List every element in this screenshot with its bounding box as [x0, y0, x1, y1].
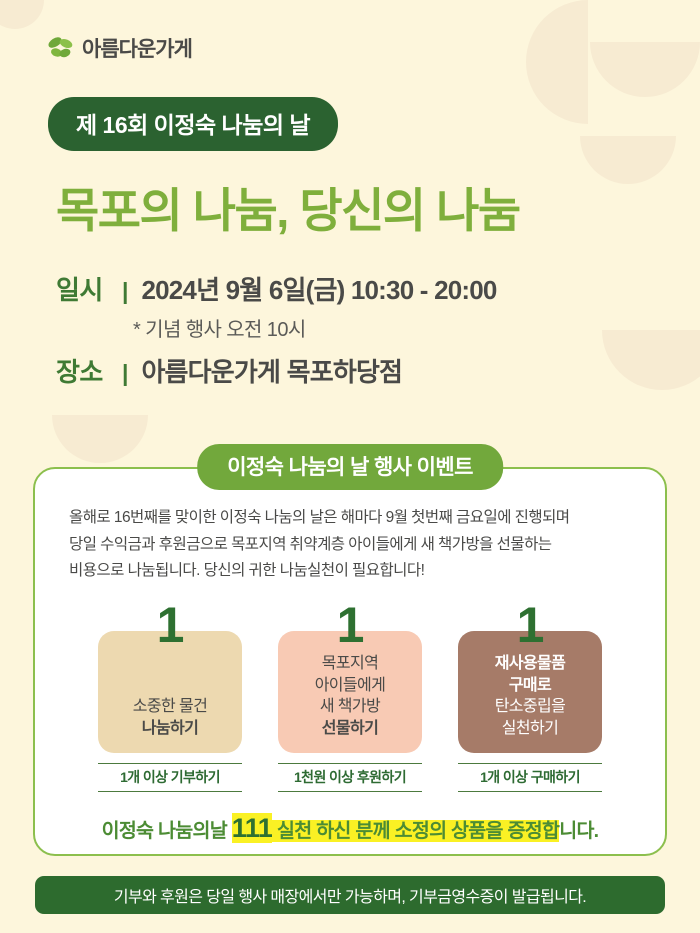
- decorative-shape-upper-right-large: [526, 0, 588, 124]
- place-value: 아름다운가게 목포하당점: [141, 352, 402, 389]
- reward-suffix: 니다.: [559, 820, 598, 842]
- event-card: 올해로 16번째를 맞이한 이정숙 나눔의 날은 해마다 9월 첫번째 금요일에…: [33, 467, 667, 856]
- action-box-line: 목포지역: [322, 653, 378, 675]
- action-box-number: 1: [157, 604, 184, 647]
- action-box-caption: 1개 이상 구매하기: [458, 763, 602, 792]
- action-box-caption: 1개 이상 기부하기: [98, 763, 242, 792]
- footer-notice: 기부와 후원은 당일 행사 매장에서만 가능하며, 기부금영수증이 발급됩니다.: [35, 876, 665, 914]
- action-box-line: 아이들에게: [315, 675, 386, 697]
- place-separator: |: [122, 360, 128, 387]
- description-line: 비용으로 나눔됩니다. 당신의 귀한 나눔실천이 필요합니다!: [69, 558, 631, 585]
- brand-logo: 아름다운가게: [46, 33, 192, 63]
- action-box-line: 선물하기: [322, 718, 378, 740]
- action-box-number: 1: [337, 604, 364, 647]
- reward-number: 111: [232, 813, 273, 843]
- event-info: 일시 | 2024년 9월 6일(금) 10:30 - 20:00 * 기념 행…: [56, 270, 656, 393]
- event-title-badge: 제 16회 이정숙 나눔의 날: [48, 97, 338, 151]
- decorative-shape-right-mid: [580, 136, 676, 184]
- action-box-line: 실천하기: [502, 718, 558, 740]
- description-line: 당일 수익금과 후원금으로 목포지역 취약계층 아이들에게 새 책가방을 선물하…: [69, 532, 631, 559]
- action-box-caption: 1천원 이상 후원하기: [278, 763, 422, 792]
- clover-leaf-icon: [46, 33, 76, 63]
- action-box-line: 재사용물품: [495, 653, 566, 675]
- event-description: 올해로 16번째를 맞이한 이정숙 나눔의 날은 해마다 9월 첫번째 금요일에…: [69, 505, 631, 585]
- logo-text: 아름다운가게: [82, 33, 192, 63]
- action-box-line: 새 책가방: [320, 696, 380, 718]
- description-line: 올해로 16번째를 맞이한 이정숙 나눔의 날은 해마다 9월 첫번째 금요일에…: [69, 505, 631, 532]
- date-label: 일시: [56, 270, 118, 307]
- action-box-number: 1: [517, 604, 544, 647]
- event-card-badge: 이정숙 나눔의 날 행사 이벤트: [197, 444, 503, 490]
- action-box-line: 구매로: [509, 675, 551, 697]
- decorative-shape-top-left: [0, 0, 44, 29]
- decorative-shape-right-top: [590, 42, 700, 97]
- decorative-shape-left-lower: [52, 415, 148, 463]
- action-box-1: 1소중한 물건나눔하기1개 이상 기부하기: [98, 604, 242, 792]
- event-card-body: 올해로 16번째를 맞이한 이정숙 나눔의 날은 해마다 9월 첫번째 금요일에…: [35, 469, 665, 854]
- action-box-3: 1재사용물품구매로탄소중립을실천하기1개 이상 구매하기: [458, 604, 602, 792]
- info-row-date: 일시 | 2024년 9월 6일(금) 10:30 - 20:00: [56, 270, 656, 307]
- reward-notice: 이정숙 나눔의날 111 실천 하신 분께 소정의 상품을 증정합니다.: [69, 813, 631, 844]
- date-separator: |: [122, 278, 128, 305]
- action-box-2: 1목포지역아이들에게새 책가방선물하기1천원 이상 후원하기: [278, 604, 422, 792]
- action-box-line: 탄소중립을: [495, 696, 566, 718]
- info-row-place: 장소 | 아름다운가게 목포하당점: [56, 352, 656, 389]
- place-label: 장소: [56, 352, 118, 389]
- reward-middle: 실천 하신 분께 소정의 상품을 증정합: [272, 820, 559, 842]
- action-box-line: 나눔하기: [142, 718, 198, 740]
- date-note: * 기념 행사 오전 10시: [133, 313, 656, 342]
- page-title: 목포의 나눔, 당신의 나눔: [56, 172, 520, 241]
- date-value: 2024년 9월 6일(금) 10:30 - 20:00: [141, 270, 496, 307]
- reward-prefix: 이정숙 나눔의날: [102, 820, 232, 842]
- action-boxes: 1소중한 물건나눔하기1개 이상 기부하기1목포지역아이들에게새 책가방선물하기…: [69, 604, 631, 792]
- action-box-line: 소중한 물건: [133, 696, 207, 718]
